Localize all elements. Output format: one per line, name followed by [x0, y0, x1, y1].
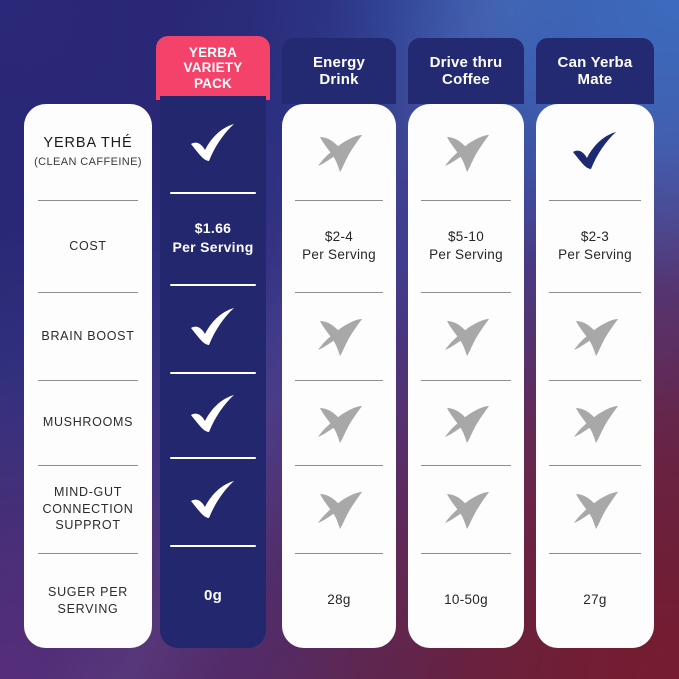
cell-brain-boost — [408, 292, 524, 380]
cell-brain-boost — [282, 292, 396, 380]
row-label-line-2: SERVING — [58, 602, 119, 616]
cell-mind-gut-connection-support — [160, 457, 266, 545]
cell-yerba-the — [536, 104, 654, 200]
cost-unit: Per Serving — [558, 246, 632, 264]
check-icon — [569, 131, 621, 173]
cell-mind-gut-connection-support — [536, 465, 654, 553]
comparison-chart: YERBA VARIETY PACK Energy Drink Drive th… — [0, 0, 679, 679]
cell-mushrooms — [536, 380, 654, 465]
row-label-sub: (CLEAN CAFFEINE) — [34, 155, 142, 170]
header-line-1: Can Yerba — [558, 54, 633, 71]
check-icon — [187, 123, 239, 165]
cost-unit: Per Serving — [172, 238, 253, 257]
column-can-yerba-mate: $2-3 Per Serving — [536, 104, 654, 648]
cell-mind-gut-connection-support — [282, 465, 396, 553]
sugar-value: 0g — [204, 586, 222, 606]
cell-yerba-the — [408, 104, 524, 200]
row-label-mind-gut-connection-support: MIND-GUT CONNECTION SUPPROT — [24, 465, 152, 553]
check-icon — [187, 394, 239, 436]
cell-sugar-per-serving: 10-50g — [408, 553, 524, 648]
cost-value: $2-4 — [302, 228, 376, 246]
x-icon — [440, 488, 492, 530]
cell-cost: $5-10 Per Serving — [408, 200, 524, 292]
row-label-line-2: CONNECTION — [42, 502, 133, 516]
cell-mushrooms — [160, 372, 266, 457]
cell-sugar-per-serving: 27g — [536, 553, 654, 648]
row-label-mushrooms: MUSHROOMS — [24, 380, 152, 465]
row-label-column: YERBA THÉ (CLEAN CAFFEINE) COST BRAIN BO… — [24, 104, 152, 648]
x-icon — [440, 131, 492, 173]
header-line-1: Drive thru — [430, 54, 503, 71]
x-icon — [440, 315, 492, 357]
cost-unit: Per Serving — [429, 246, 503, 264]
row-label-sugar-per-serving: SUGER PER SERVING — [24, 553, 152, 648]
column-header-yerba-variety-pack[interactable]: YERBA VARIETY PACK — [156, 36, 270, 100]
column-energy-drink: $2-4 Per Serving — [282, 104, 396, 648]
cell-mushrooms — [408, 380, 524, 465]
header-line-1: YERBA — [189, 45, 237, 60]
cell-yerba-the — [282, 104, 396, 200]
x-icon — [313, 402, 365, 444]
cost-value: $2-3 — [558, 228, 632, 246]
cell-mind-gut-connection-support — [408, 465, 524, 553]
cost-value: $5-10 — [429, 228, 503, 246]
header-line-2: Coffee — [442, 71, 490, 88]
cost-unit: Per Serving — [302, 246, 376, 264]
cell-brain-boost — [160, 284, 266, 372]
header-line-3: PACK — [194, 76, 232, 91]
cell-cost: $1.66 Per Serving — [160, 192, 266, 284]
column-header-can-yerba-mate[interactable]: Can Yerba Mate — [536, 38, 654, 104]
row-label-brain-boost: BRAIN BOOST — [24, 292, 152, 380]
x-icon — [569, 315, 621, 357]
x-icon — [569, 488, 621, 530]
comparison-table: YERBA VARIETY PACK Energy Drink Drive th… — [0, 0, 679, 679]
column-header-energy-drink[interactable]: Energy Drink — [282, 38, 396, 104]
cell-yerba-the — [160, 96, 266, 192]
sugar-value: 27g — [583, 591, 606, 609]
x-icon — [313, 315, 365, 357]
x-icon — [313, 488, 365, 530]
x-icon — [569, 402, 621, 444]
column-yerba-variety-pack: $1.66 Per Serving 0g — [160, 96, 266, 648]
sugar-value: 28g — [327, 591, 350, 609]
row-label-line-1: MIND-GUT — [54, 485, 122, 499]
cell-cost: $2-4 Per Serving — [282, 200, 396, 292]
row-label-line-1: SUGER PER — [48, 585, 128, 599]
check-icon — [187, 307, 239, 349]
check-icon — [187, 480, 239, 522]
row-label-cost: COST — [24, 200, 152, 292]
x-icon — [440, 402, 492, 444]
cell-sugar-per-serving: 0g — [160, 545, 266, 648]
header-line-2: VARIETY — [184, 60, 243, 75]
column-header-drive-thru-coffee[interactable]: Drive thru Coffee — [408, 38, 524, 104]
cell-mushrooms — [282, 380, 396, 465]
cell-sugar-per-serving: 28g — [282, 553, 396, 648]
header-line-2: Drink — [319, 71, 358, 88]
column-drive-thru-coffee: $5-10 Per Serving — [408, 104, 524, 648]
cell-brain-boost — [536, 292, 654, 380]
header-line-2: Mate — [578, 71, 613, 88]
row-label-line-3: SUPPROT — [55, 518, 120, 532]
row-label-main: YERBA THÉ — [43, 134, 132, 154]
sugar-value: 10-50g — [444, 591, 488, 609]
header-line-1: Energy — [313, 54, 365, 71]
row-label-yerba-the: YERBA THÉ (CLEAN CAFFEINE) — [24, 104, 152, 200]
x-icon — [313, 131, 365, 173]
cost-value: $1.66 — [172, 219, 253, 238]
cell-cost: $2-3 Per Serving — [536, 200, 654, 292]
